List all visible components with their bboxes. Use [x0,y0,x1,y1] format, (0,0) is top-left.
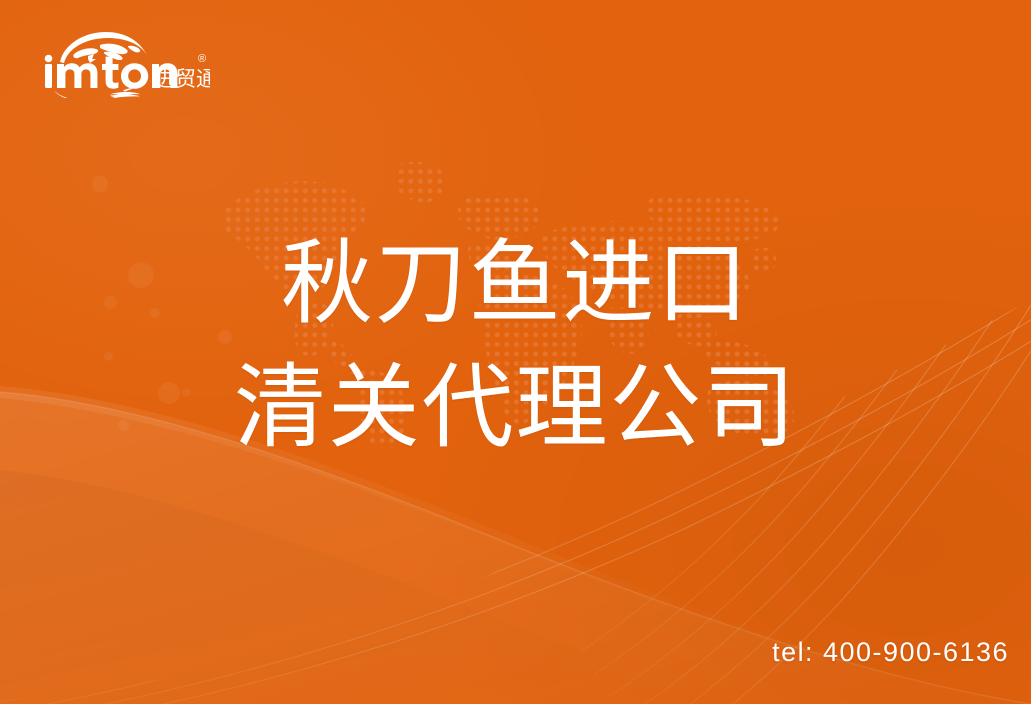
imton-logo[interactable]: 进贸通 ® [38,28,210,98]
headline-line-2: 清关代理公司 [0,360,1031,458]
logo-chinese-name: 进贸通 [154,68,210,91]
headline-line-1: 秋刀鱼进口 [0,236,1031,334]
registered-trademark-icon: ® [198,53,206,65]
promo-banner: 进贸通 ® 秋刀鱼进口 清关代理公司 tel: 400-900-6136 [0,0,1031,704]
headline: 秋刀鱼进口 清关代理公司 [0,236,1031,457]
telephone-text[interactable]: tel: 400-900-6136 [772,637,1009,668]
